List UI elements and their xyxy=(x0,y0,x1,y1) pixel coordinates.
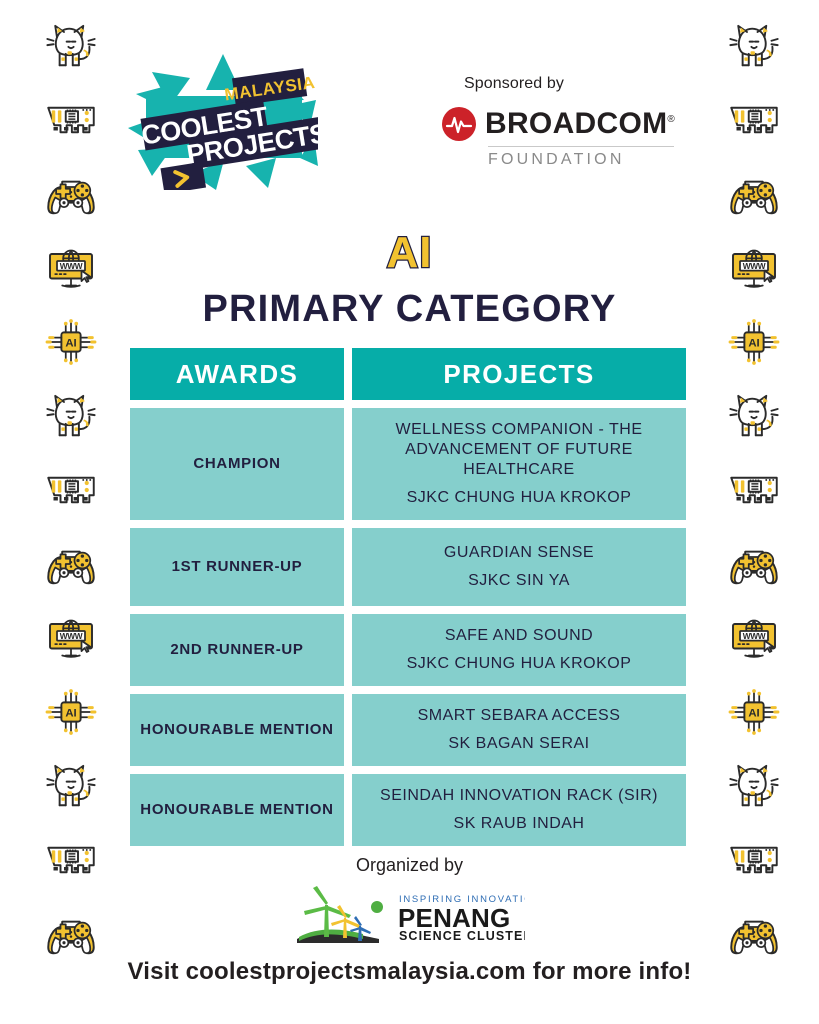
penang-science-cluster-logo: INSPIRING INNOVATION PENANG SCIENCE CLUS… xyxy=(0,885,819,947)
broadcom-name: BROADCOM xyxy=(485,107,667,140)
award-label: CHAMPION xyxy=(130,408,344,520)
project-cell: SMART SEBARA ACCESS SK BAGAN SERAI xyxy=(352,694,686,766)
award-label: 1ST RUNNER-UP xyxy=(130,528,344,606)
header: MALAYSIA COOLEST PROJECTS Sponsored by xyxy=(128,52,688,192)
project-cell: WELLNESS COMPANION - THE ADVANCEMENT OF … xyxy=(352,408,686,520)
project-title: SMART SEBARA ACCESS xyxy=(418,706,621,726)
ai-chip-icon: AI xyxy=(726,684,782,740)
project-cell: SEINDAH INNOVATION RACK (SIR) SK RAUB IN… xyxy=(352,774,686,846)
awards-table: AWARDS PROJECTS CHAMPION WELLNESS COMPAN… xyxy=(130,348,686,854)
project-cell: GUARDIAN SENSE SJKC SIN YA xyxy=(352,528,686,606)
gamepad-icon xyxy=(43,536,99,592)
cat-icon xyxy=(43,758,99,814)
broadcom-registered-mark: ® xyxy=(667,114,675,125)
project-title: SEINDAH INNOVATION RACK (SIR) xyxy=(380,786,658,806)
cat-icon xyxy=(726,758,782,814)
broadcom-divider xyxy=(488,146,674,147)
table-row: 2ND RUNNER-UP SAFE AND SOUND SJKC CHUNG … xyxy=(130,614,686,686)
table-row: HONOURABLE MENTION SEINDAH INNOVATION RA… xyxy=(130,774,686,846)
sponsor-block: Sponsored by BROADCOM® FOUNDATION xyxy=(438,75,688,169)
column-header-projects: PROJECTS xyxy=(352,348,686,400)
cat-icon xyxy=(43,18,99,74)
gamepad-icon xyxy=(726,166,782,222)
organized-by-label: Organized by xyxy=(0,855,819,876)
project-cell: SAFE AND SOUND SJKC CHUNG HUA KROKOP xyxy=(352,614,686,686)
broadcom-foundation-label: FOUNDATION xyxy=(442,151,675,169)
project-school: SJKC CHUNG HUA KROKOP xyxy=(407,654,632,674)
ai-chip-icon: AI xyxy=(43,684,99,740)
project-title: WELLNESS COMPANION - THE ADVANCEMENT OF … xyxy=(362,420,676,480)
poster: WWWAIWWWAI WWWAIWWWAI MALAYSIA xyxy=(0,0,819,1024)
table-header-row: AWARDS PROJECTS xyxy=(130,348,686,400)
cat-icon xyxy=(43,388,99,444)
award-label: HONOURABLE MENTION xyxy=(130,774,344,846)
broadcom-wave-icon xyxy=(442,107,476,141)
svg-text:AI: AI xyxy=(748,337,759,349)
project-title: SAFE AND SOUND xyxy=(445,626,593,646)
category-code: AI xyxy=(0,228,819,278)
sponsored-by-label: Sponsored by xyxy=(442,75,564,93)
svg-text:WWW: WWW xyxy=(60,631,83,641)
cat-icon xyxy=(726,18,782,74)
monitor-www-icon: WWW xyxy=(726,610,782,666)
circuit-board-icon xyxy=(726,92,782,148)
broadcom-logo: BROADCOM® FOUNDATION xyxy=(442,107,675,169)
gamepad-icon xyxy=(43,166,99,222)
project-school: SJKC CHUNG HUA KROKOP xyxy=(407,488,632,508)
svg-text:AI: AI xyxy=(748,707,759,719)
monitor-www-icon: WWW xyxy=(43,610,99,666)
column-header-awards: AWARDS xyxy=(130,348,344,400)
table-row: CHAMPION WELLNESS COMPANION - THE ADVANC… xyxy=(130,408,686,520)
circuit-board-icon xyxy=(43,92,99,148)
project-school: SK BAGAN SERAI xyxy=(448,734,589,754)
cat-icon xyxy=(726,388,782,444)
broadcom-wordmark: BROADCOM® xyxy=(485,109,675,139)
award-label: 2ND RUNNER-UP xyxy=(130,614,344,686)
svg-text:WWW: WWW xyxy=(743,631,766,641)
project-school: SJKC SIN YA xyxy=(468,571,570,591)
svg-text:SCIENCE CLUSTER: SCIENCE CLUSTER xyxy=(399,929,525,943)
award-label: HONOURABLE MENTION xyxy=(130,694,344,766)
project-title: GUARDIAN SENSE xyxy=(444,543,594,563)
gamepad-icon xyxy=(726,536,782,592)
svg-text:AI: AI xyxy=(65,707,76,719)
visit-website-line: Visit coolestprojectsmalaysia.com for mo… xyxy=(0,958,819,986)
project-school: SK RAUB INDAH xyxy=(454,814,585,834)
psc-logo-graphic: INSPIRING INNOVATION PENANG SCIENCE CLUS… xyxy=(295,885,525,947)
coolest-projects-logo: MALAYSIA COOLEST PROJECTS xyxy=(128,54,318,190)
circuit-board-icon xyxy=(726,462,782,518)
circuit-board-icon xyxy=(43,462,99,518)
table-row: 1ST RUNNER-UP GUARDIAN SENSE SJKC SIN YA xyxy=(130,528,686,606)
svg-text:AI: AI xyxy=(65,337,76,349)
page-title: PRIMARY CATEGORY xyxy=(0,288,819,331)
table-row: HONOURABLE MENTION SMART SEBARA ACCESS S… xyxy=(130,694,686,766)
